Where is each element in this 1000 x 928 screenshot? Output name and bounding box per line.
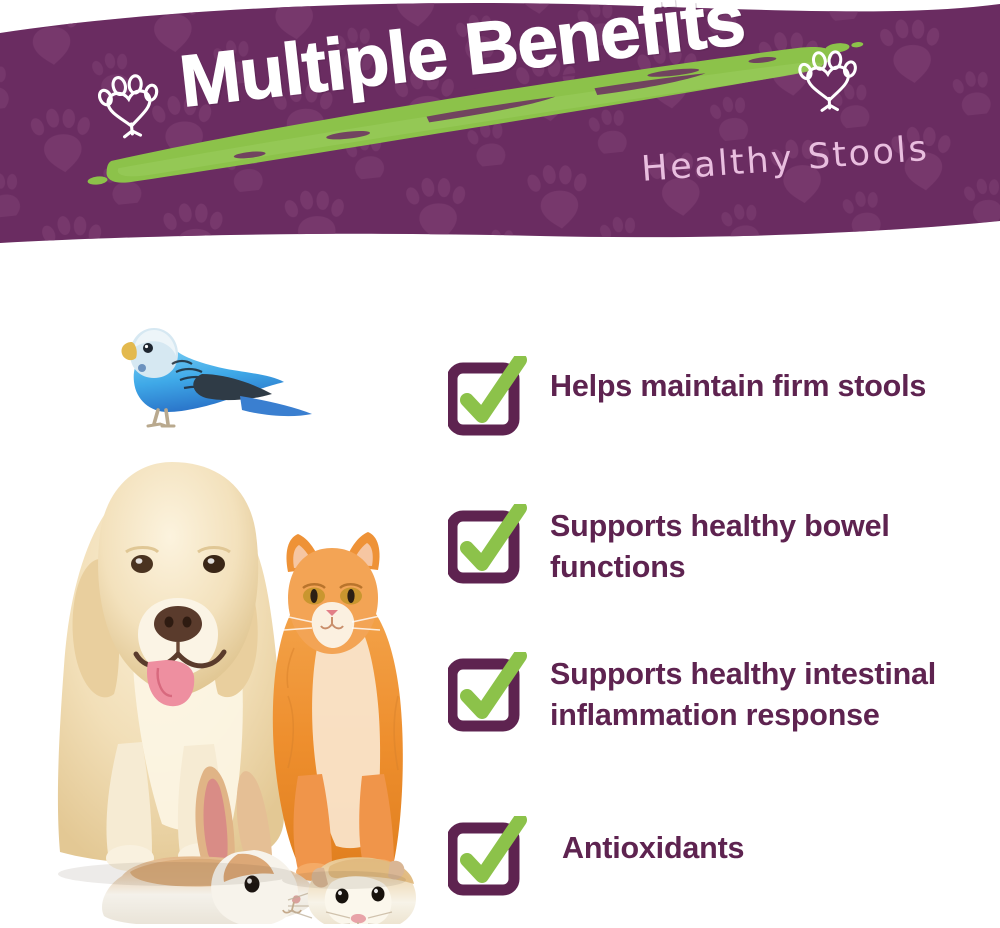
benefit-label: Antioxidants (562, 812, 744, 869)
benefit-label: Supports healthy bowel functions (550, 500, 990, 588)
benefit-item: Helps maintain firm stools (448, 352, 926, 440)
benefit-item: Supports healthy intestinal inflammation… (448, 648, 990, 736)
checkbox-checked-icon[interactable] (448, 504, 528, 588)
paw-heart-icon (796, 40, 862, 113)
header-banner: Multiple Benefits Healthy Stools (0, 0, 1000, 256)
pets-illustration (26, 276, 446, 924)
checkbox-checked-icon[interactable] (448, 652, 528, 736)
guinea-pig-figure (308, 857, 416, 924)
pets-photo (26, 276, 446, 924)
checkbox-checked-icon[interactable] (448, 816, 528, 900)
benefit-item: Antioxidants (448, 812, 744, 900)
benefit-label: Supports healthy intestinal inflammation… (550, 648, 990, 736)
checkbox-checked-icon[interactable] (448, 356, 528, 440)
paw-heart-icon (94, 63, 165, 141)
benefit-label: Helps maintain firm stools (550, 352, 926, 407)
product-benefits-infographic: Multiple Benefits Healthy Stools (0, 0, 1000, 928)
benefit-item: Supports healthy bowel functions (448, 500, 990, 588)
